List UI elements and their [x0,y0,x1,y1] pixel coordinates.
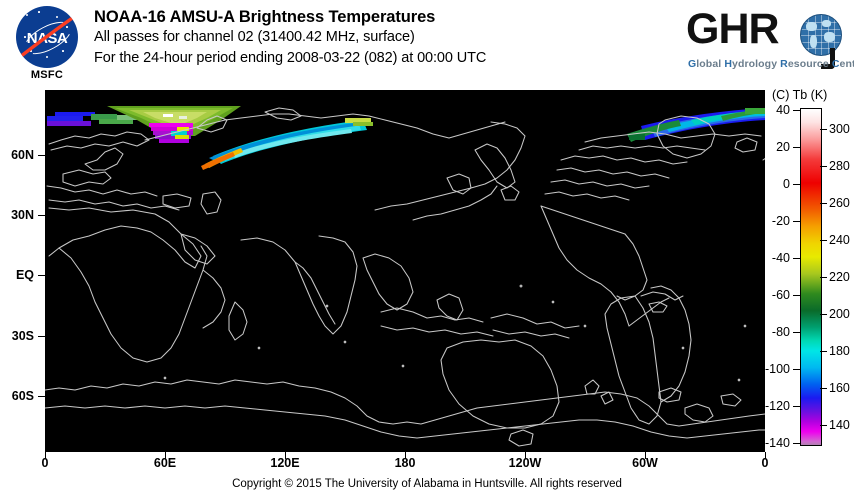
cblabel-left-m80: -80 [752,325,790,339]
ylabel-60s: 60S [0,389,34,403]
ghrc-wordmark: GHR [686,8,779,51]
visualization-canvas: NASA MSFC NOAA-16 AMSU-A Brightness Temp… [0,0,854,502]
cbtick-left-m100 [793,369,800,370]
nasa-swoosh-icon [16,10,78,64]
ylabel-eq: EQ [0,268,34,282]
subtitle-period: For the 24-hour period ending 2008-03-22… [94,48,486,69]
cblabel-right-220: 220 [829,270,850,284]
cbtick-right-180 [820,351,827,352]
cbtick-left-m140 [793,443,800,444]
xlabel-60e: 60E [145,456,185,470]
title-block: NOAA-16 AMSU-A Brightness Temperatures A… [94,7,486,69]
ylabel-30s: 30S [0,329,34,343]
xlabel-120e: 120E [265,456,305,470]
cbtick-left-20 [793,147,800,148]
cblabel-left-m60: -60 [752,288,790,302]
cblabel-left-m20: -20 [752,214,790,228]
nasa-center-label: MSFC [8,69,86,81]
subtitle-channel: All passes for channel 02 (31400.42 MHz,… [94,27,486,48]
colorbar-gradient[interactable] [800,108,822,446]
colorbar-header: (C) Tb (K) [772,88,827,102]
ytick-60n [38,155,45,156]
cblabel-right-160: 160 [829,381,850,395]
cblabel-right-260: 260 [829,196,850,210]
cblabel-left-m120: -120 [752,399,790,413]
xlabel-60w: 60W [625,456,665,470]
cblabel-right-140: 140 [829,418,850,432]
xlabel-360: 0 [745,456,785,470]
cbtick-left-m80 [793,332,800,333]
cblabel-right-300: 300 [829,122,850,136]
xlabel-0: 0 [25,456,65,470]
cblabel-left-0: 0 [752,177,790,191]
nasa-meatball-icon: NASA [16,6,78,68]
map-canvas [45,90,765,452]
page-title: NOAA-16 AMSU-A Brightness Temperatures [94,7,486,27]
cbtick-left-40 [793,110,800,111]
cblabel-left-m140: -140 [752,436,790,450]
cblabel-left-40: 40 [752,103,790,117]
xlabel-180: 180 [385,456,425,470]
cbtick-right-140 [820,425,827,426]
cbtick-right-240 [820,240,827,241]
cbtick-left-m60 [793,295,800,296]
map-background [45,90,765,452]
cblabel-left-m100: -100 [752,362,790,376]
cbtick-left-m20 [793,221,800,222]
cblabel-left-20: 20 [752,140,790,154]
cbtick-right-260 [820,203,827,204]
cbtick-right-280 [820,166,827,167]
xlabel-120w: 120W [505,456,545,470]
ytick-60s [38,396,45,397]
world-map-plot[interactable] [45,90,765,452]
cblabel-right-200: 200 [829,307,850,321]
cblabel-right-240: 240 [829,233,850,247]
cbtick-left-0 [793,184,800,185]
cbtick-right-300 [820,129,827,130]
ghrc-logo: GHR Global Hydrology Resource Center [686,8,846,76]
ylabel-30n: 30N [0,208,34,222]
copyright-notice: Copyright © 2015 The University of Alaba… [0,478,854,490]
nasa-logo: NASA MSFC [8,6,86,84]
cblabel-left-m40: -40 [752,251,790,265]
ytick-30s [38,336,45,337]
cblabel-right-180: 180 [829,344,850,358]
cbtick-left-m40 [793,258,800,259]
ytick-30n [38,215,45,216]
ylabel-60n: 60N [0,148,34,162]
cbtick-right-220 [820,277,827,278]
ghrc-subtitle: Global Hydrology Resource Center [688,58,854,70]
cblabel-right-280: 280 [829,159,850,173]
ytick-eq [38,275,45,276]
cbtick-right-200 [820,314,827,315]
cbtick-right-160 [820,388,827,389]
cbtick-left-m120 [793,406,800,407]
